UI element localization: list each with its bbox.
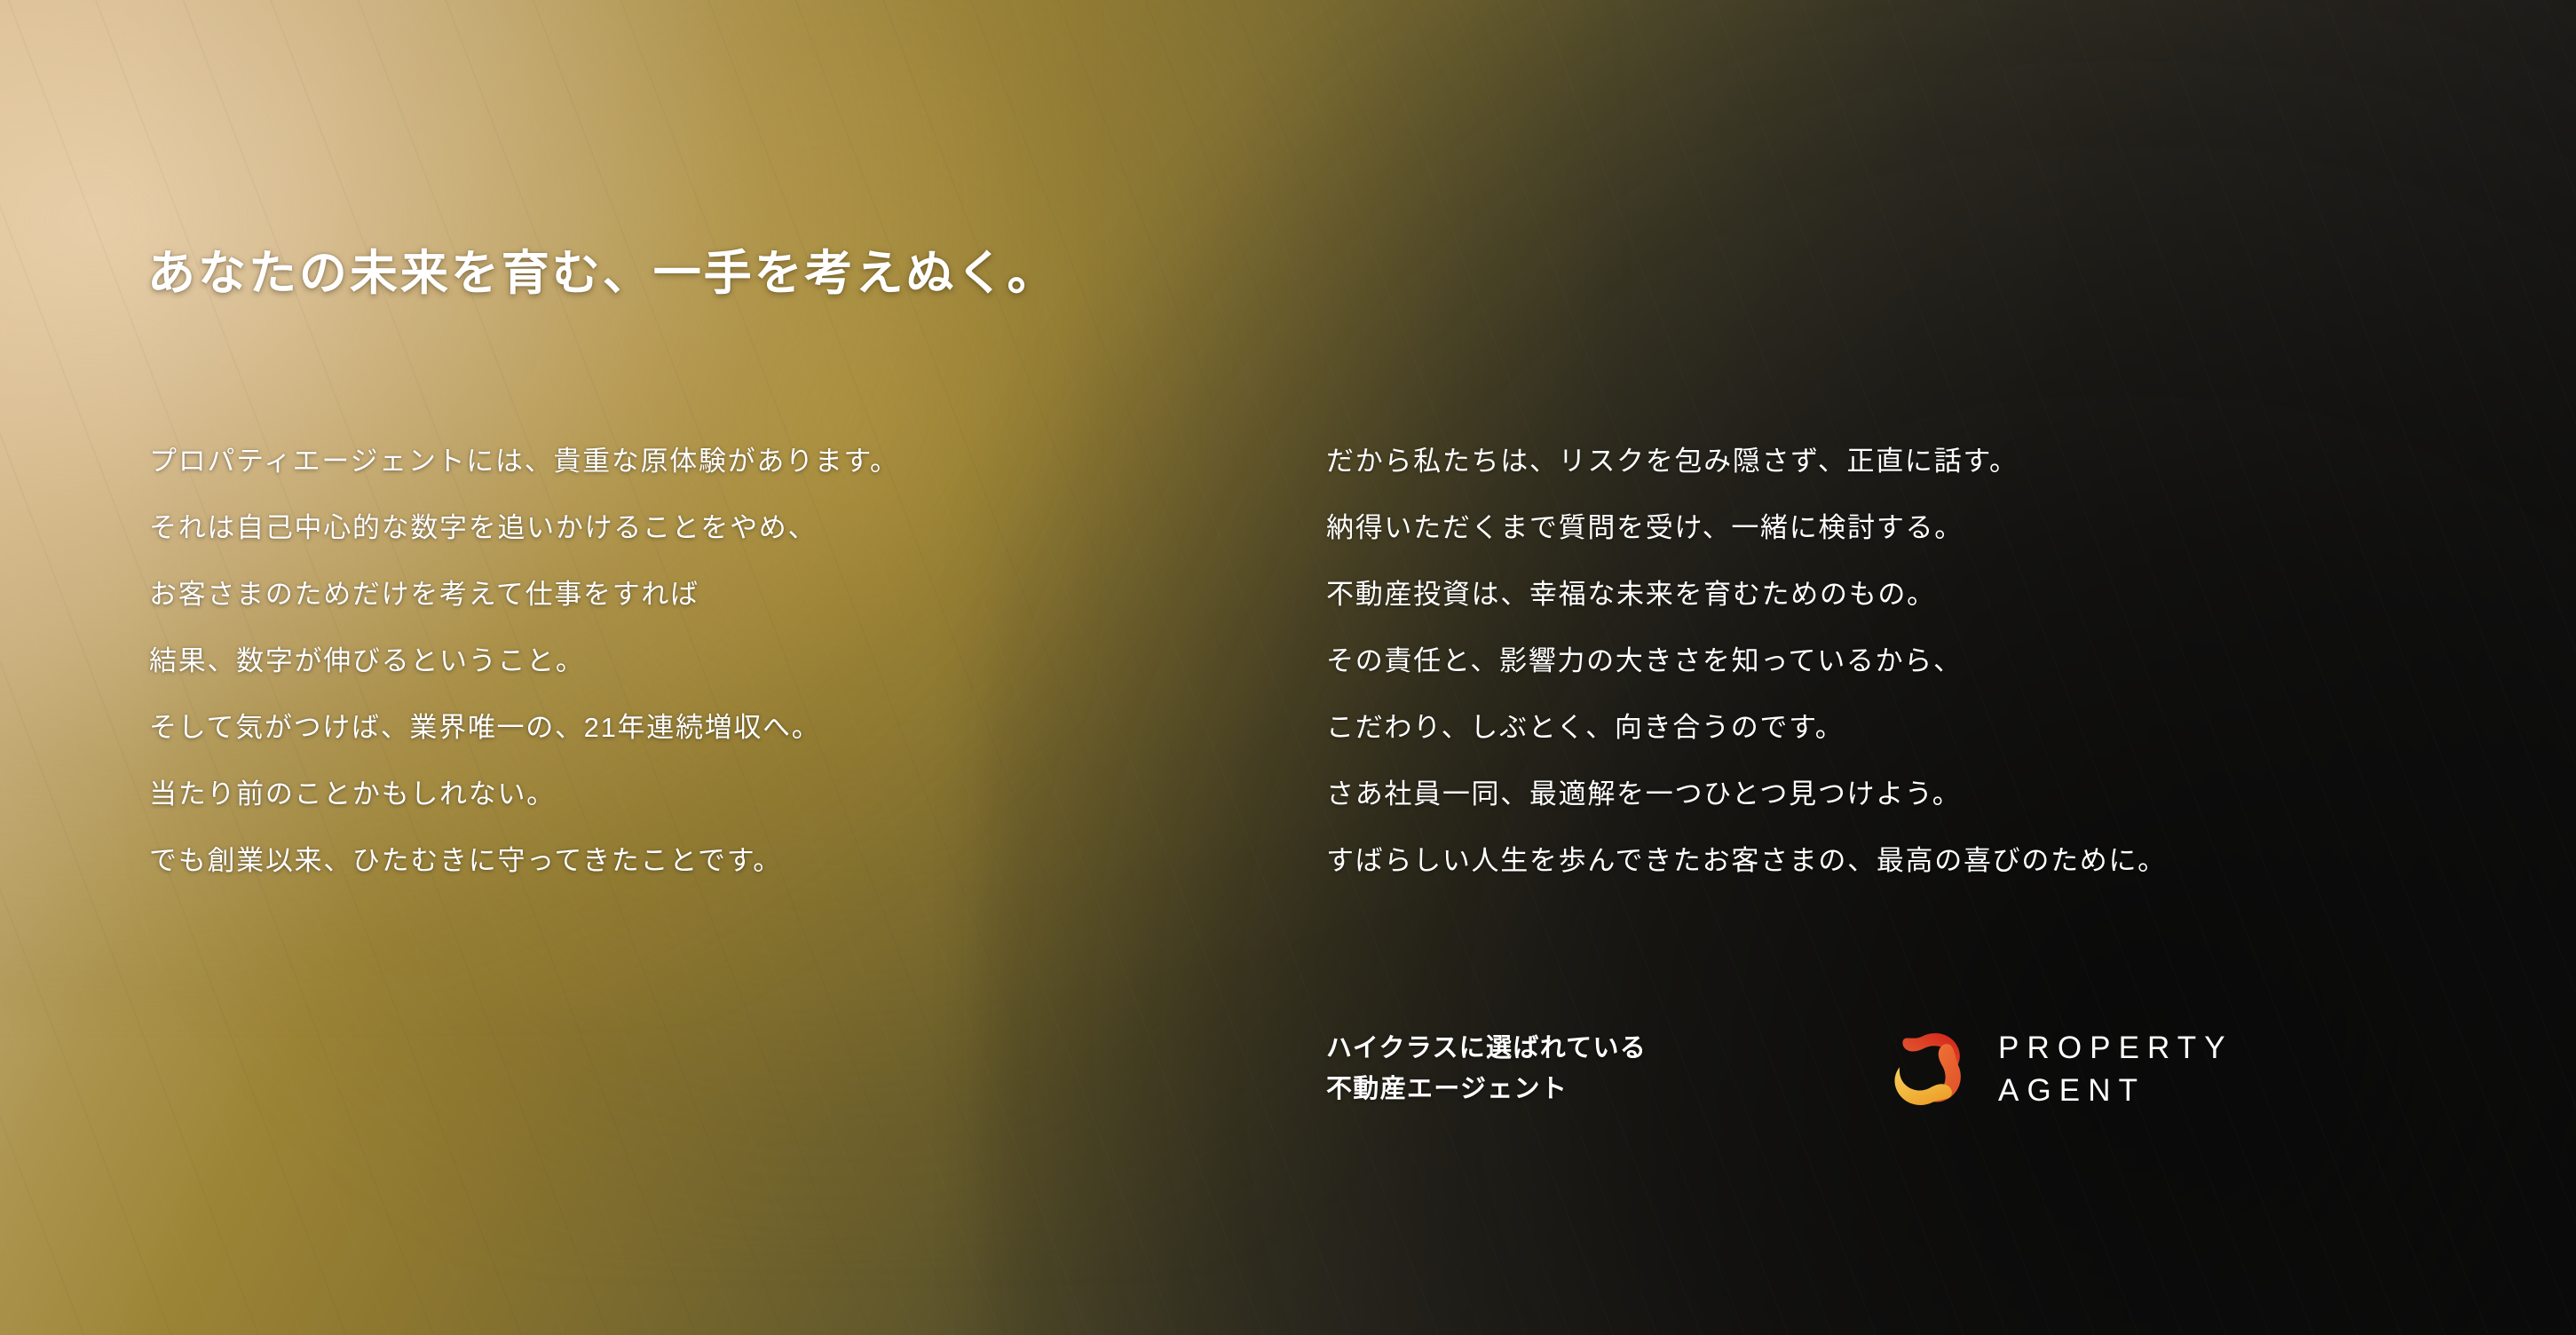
brand-wordmark: PROPERTY AGENT [1998, 1032, 2233, 1106]
brand-message-slide: あなたの未来を育む、一手を考えぬく。 プロパティエージェントには、貴重な原体験が… [0, 0, 2576, 1335]
body-line: 当たり前のことかもしれない。 [149, 761, 899, 827]
page-title: あなたの未来を育む、一手を考えぬく。 [147, 241, 1057, 306]
brand-wordmark-line-1: PROPERTY [1998, 1032, 2233, 1063]
brand-tagline: ハイクラスに選ばれている 不動産エージェント [1326, 1028, 1881, 1110]
body-line: さあ社員一同、最適解を一つひとつ見つけよう。 [1326, 761, 2167, 827]
logo-lockup: PROPERTY AGENT [1881, 1023, 2233, 1115]
property-agent-trefoil-logo-icon [1881, 1023, 1973, 1115]
body-line: でも創業以来、ひたむきに守ってきたことです。 [149, 827, 899, 894]
body-line: それは自己中心的な数字を追いかけることをやめ、 [149, 494, 899, 561]
body-line: その責任と、影響力の大きさを知っているから、 [1326, 628, 2167, 694]
body-line: 不動産投資は、幸福な未来を育むためのもの。 [1326, 561, 2167, 628]
body-column-left: プロパティエージェントには、貴重な原体験があります。 それは自己中心的な数字を追… [149, 428, 899, 894]
body-line: 納得いただくまで質問を受け、一緒に検討する。 [1326, 494, 2167, 561]
body-line: お客さまのためだけを考えて仕事をすれば [149, 561, 899, 628]
brand-tagline-line-1: ハイクラスに選ばれている [1326, 1028, 1881, 1069]
body-column-right: だから私たちは、リスクを包み隠さず、正直に話す。 納得いただくまで質問を受け、一… [1326, 428, 2167, 894]
body-line: だから私たちは、リスクを包み隠さず、正直に話す。 [1326, 428, 2167, 494]
body-line: すばらしい人生を歩んできたお客さまの、最高の喜びのために。 [1326, 827, 2167, 894]
brand-wordmark-line-2: AGENT [1998, 1075, 2233, 1106]
slide-content: あなたの未来を育む、一手を考えぬく。 プロパティエージェントには、貴重な原体験が… [0, 0, 2576, 1335]
body-line: プロパティエージェントには、貴重な原体験があります。 [149, 428, 899, 494]
brand-lockup: ハイクラスに選ばれている 不動産エージェント [1326, 1023, 2233, 1115]
brand-tagline-line-2: 不動産エージェント [1326, 1069, 1881, 1110]
body-line: 結果、数字が伸びるということ。 [149, 628, 899, 694]
body-line: こだわり、しぶとく、向き合うのです。 [1326, 694, 2167, 761]
body-line: そして気がつけば、業界唯一の、21年連続増収へ。 [149, 694, 899, 761]
